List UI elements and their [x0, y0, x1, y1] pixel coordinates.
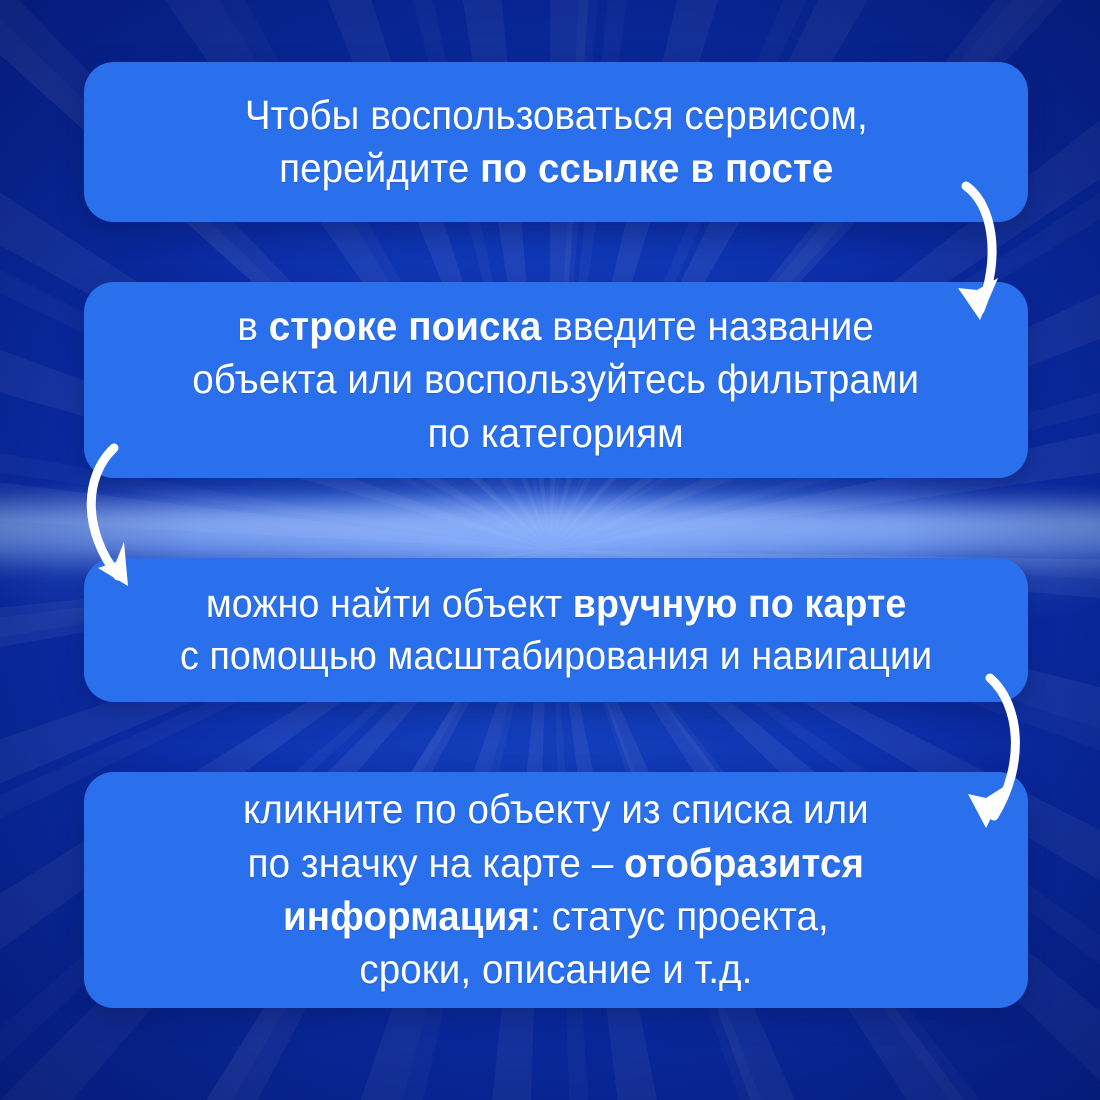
- step-1-text: Чтобы воспользоваться сервисом,перейдите…: [220, 89, 892, 196]
- step-card-2: в строке поиска введите названиеобъекта …: [84, 282, 1028, 478]
- step-2-text: в строке поиска введите названиеобъекта …: [168, 300, 944, 460]
- step-3-text: можно найти объект вручную по картес пом…: [155, 578, 956, 682]
- infographic-canvas: Чтобы воспользоваться сервисом,перейдите…: [0, 0, 1100, 1100]
- step-card-4: кликните по объекту из списка илипо знач…: [84, 772, 1028, 1008]
- step-4-text: кликните по объекту из списка илипо знач…: [219, 783, 894, 996]
- step-card-3: можно найти объект вручную по картес пом…: [84, 558, 1028, 702]
- step-card-1: Чтобы воспользоваться сервисом,перейдите…: [84, 62, 1028, 222]
